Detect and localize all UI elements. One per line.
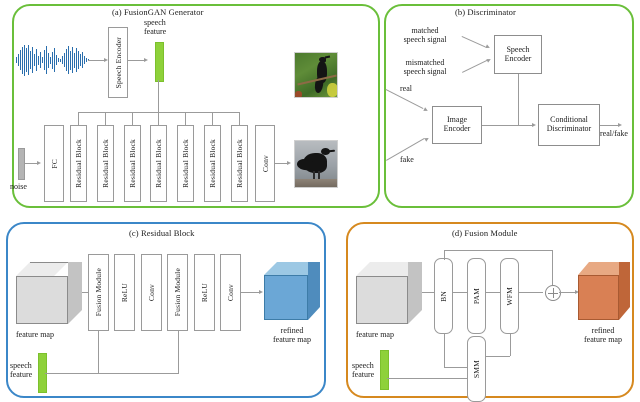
panel-c-title: (c) Residual Block (129, 228, 195, 238)
block-residual-4: Residual Block (150, 125, 167, 202)
block-label: Residual Block (235, 139, 244, 188)
real-fake-output-label: real/fake (600, 129, 628, 138)
arrow-conv2-to-refined-c (259, 290, 263, 294)
speech-feature-label-d-line1: speech (352, 361, 374, 370)
figure-root: (a) FusionGAN Generator (0, 0, 640, 402)
refined-label-c-line2: feature map (262, 335, 322, 344)
block-conv-1: Conv (141, 254, 162, 331)
block-label: BN (439, 291, 448, 302)
smm-in-from-bn (444, 367, 467, 368)
block-label-line2: Discriminator (547, 125, 591, 134)
block-label-line2: Encoder (505, 55, 532, 64)
arrow-noise-to-fc (37, 161, 41, 165)
block-label-wrap: Image Encoder (444, 116, 471, 134)
block-smm: SMM (467, 336, 486, 402)
panel-d-title: (d) Fusion Module (452, 228, 517, 238)
block-label: WFM (505, 287, 514, 306)
block-fc: FC (44, 125, 64, 202)
speech-waveform-icon (16, 44, 96, 76)
block-label-line2: Encoder (444, 125, 471, 134)
block-conv-2: Conv (220, 254, 241, 331)
block-residual-7: Residual Block (231, 125, 248, 202)
block-label: Fusion Module (94, 268, 103, 316)
line-bn-to-pam (453, 292, 467, 293)
line-pam-to-wfm (486, 292, 500, 293)
skip-riser-left (444, 250, 445, 260)
block-image-encoder: Image Encoder (432, 106, 482, 144)
speech-feature-label-a-line1: speech (144, 18, 166, 27)
block-label: Residual Block (74, 139, 83, 188)
bn-down-to-smm-bus (444, 334, 445, 367)
sum-operator-icon (545, 285, 561, 301)
arrow-to-conditional-discriminator (532, 123, 536, 127)
real-label: real (400, 84, 412, 93)
block-residual-2: Residual Block (97, 125, 114, 202)
bus-drop-3 (132, 112, 133, 126)
line-image-encoder-to-disc (482, 125, 534, 126)
block-label-wrap: Speech Encoder (505, 46, 532, 64)
fake-label: fake (400, 155, 414, 164)
block-wfm: WFM (500, 258, 519, 334)
block-conv-a: Conv (255, 125, 275, 202)
block-relu-1: ReLU (114, 254, 135, 331)
bus-drop-5 (185, 112, 186, 126)
bus-stem (158, 80, 159, 112)
block-label: PAM (472, 288, 481, 304)
skip-riser-right (552, 250, 553, 285)
line-speech-encoder-down (518, 74, 519, 125)
panel-b-title: (b) Discriminator (455, 7, 516, 17)
block-label: Residual Block (208, 139, 217, 188)
arrow-conv-to-image (287, 161, 291, 165)
arrow-disc-output (618, 123, 622, 127)
speech-feature-label-d-line2: feature (352, 370, 374, 379)
block-label: ReLU (200, 283, 209, 302)
block-fusion-module-1: Fusion Module (88, 254, 109, 331)
mismatched-speech-signal-label-line1: mismatched (390, 58, 460, 67)
bus-drop-4 (158, 112, 159, 126)
block-conditional-discriminator: Conditional Discriminator (538, 104, 600, 146)
speech-feature-bar-a (155, 42, 164, 82)
feature-map-cube-d (356, 262, 422, 324)
bus-drop-6 (212, 112, 213, 126)
block-label: SMM (472, 360, 481, 378)
block-residual-1: Residual Block (70, 125, 87, 202)
block-label: Conv (226, 284, 235, 301)
noise-label: noise (10, 182, 27, 191)
refined-label-d-line2: feature map (574, 335, 632, 344)
line-wfm-to-sum (519, 292, 543, 293)
block-label: ReLU (120, 283, 129, 302)
refined-feature-map-cube-d (578, 262, 630, 320)
block-residual-3: Residual Block (124, 125, 141, 202)
smm-out-to-wfm (486, 356, 510, 357)
speech-feature-bar-d (380, 350, 389, 390)
bird-photo-fake (294, 140, 338, 188)
speech-feature-label-c-line1: speech (10, 361, 32, 370)
bird-photo-real (294, 52, 338, 98)
block-label: Fusion Module (173, 268, 182, 316)
block-label: Residual Block (101, 139, 110, 188)
block-label: Speech Encoder (114, 37, 123, 88)
arrow-to-speech-feature (144, 58, 148, 62)
refined-feature-map-cube-c (264, 262, 320, 320)
bus-drop-7 (239, 112, 240, 126)
block-relu-2: ReLU (194, 254, 215, 331)
speech-feature-label-a-line2: feature (144, 27, 166, 36)
bus-drop-1 (78, 112, 79, 126)
block-label: Residual Block (181, 139, 190, 188)
skip-top (444, 250, 552, 251)
speech-bus-d (387, 378, 467, 379)
feature-map-cube-c (16, 262, 82, 324)
bus-drop-2 (105, 112, 106, 126)
block-label: Conv (147, 284, 156, 301)
speech-feature-label-c-line2: feature (10, 370, 32, 379)
block-bn: BN (434, 258, 453, 334)
block-fusion-module-2: Fusion Module (167, 254, 188, 331)
feature-map-label-d: feature map (356, 330, 394, 339)
refined-label-d-line1: refined (574, 326, 632, 335)
speech-bus-c-riser-1 (98, 331, 99, 373)
speech-bus-c (45, 373, 179, 374)
panel-a-title: (a) FusionGAN Generator (112, 7, 204, 17)
line-conv2-to-refined-c (241, 292, 261, 293)
block-pam: PAM (467, 258, 486, 334)
block-speech-encoder-a: Speech Encoder (108, 27, 128, 98)
block-label-wrap: Conditional Discriminator (547, 116, 591, 134)
feature-map-label-c: feature map (16, 330, 54, 339)
smm-out-riser (510, 334, 511, 356)
block-label: Residual Block (128, 139, 137, 188)
speech-bus-c-riser-2 (178, 331, 179, 373)
block-label: Residual Block (154, 139, 163, 188)
block-label: Conv (261, 155, 270, 172)
refined-label-c-line1: refined (262, 326, 322, 335)
block-residual-5: Residual Block (177, 125, 194, 202)
mismatched-speech-signal-label-line2: speech signal (390, 67, 460, 76)
block-residual-6: Residual Block (204, 125, 221, 202)
noise-bar (18, 148, 25, 180)
matched-speech-signal-label-line2: speech signal (390, 35, 460, 44)
block-speech-encoder-b: Speech Encoder (494, 35, 542, 74)
line-disc-output (600, 125, 620, 126)
matched-speech-signal-label-line1: matched (390, 26, 460, 35)
block-label: FC (50, 159, 59, 169)
